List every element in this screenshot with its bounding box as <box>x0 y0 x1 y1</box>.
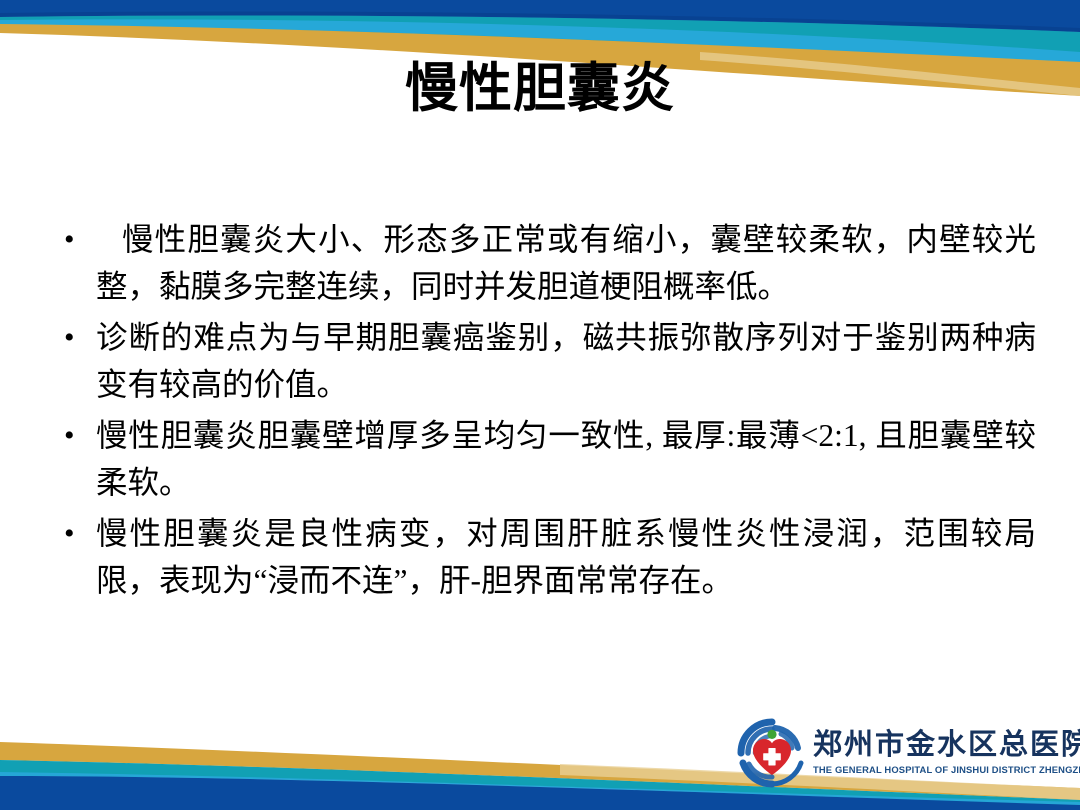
bullet-text: 慢性胆囊炎大小、形态多正常或有缩小，囊壁较柔软，内壁较光整，黏膜多完整连续，同时… <box>96 216 1036 310</box>
bullet-text: 诊断的难点为与早期胆囊癌鉴别，磁共振弥散序列对于鉴别两种病变有较高的价值。 <box>96 314 1036 408</box>
bullet-marker-icon: • <box>56 314 96 361</box>
top-band-darkblue <box>0 0 1080 32</box>
logo-text: 郑州市金水区总医院 THE GENERAL HOSPITAL OF JINSHU… <box>809 730 1080 777</box>
bullet-marker-icon: • <box>56 510 96 557</box>
bullet-text: 慢性胆囊炎胆囊壁增厚多呈均匀一致性, 最厚:最薄<2:1, 且胆囊壁较柔软。 <box>96 412 1036 506</box>
list-item: • 慢性胆囊炎大小、形态多正常或有缩小，囊壁较柔软，内壁较光整，黏膜多完整连续，… <box>56 216 1036 310</box>
heart-cross-swirl-icon <box>735 717 809 789</box>
top-band-navy <box>0 11 1080 36</box>
bullet-text: 慢性胆囊炎是良性病变，对周围肝脏系慢性炎性浸润，范围较局限，表现为“浸而不连”，… <box>96 510 1036 604</box>
bullet-list: • 慢性胆囊炎大小、形态多正常或有缩小，囊壁较柔软，内壁较光整，黏膜多完整连续，… <box>56 216 1036 608</box>
slide: 慢性胆囊炎 • 慢性胆囊炎大小、形态多正常或有缩小，囊壁较柔软，内壁较光整，黏膜… <box>0 0 1080 810</box>
list-item: • 诊断的难点为与早期胆囊癌鉴别，磁共振弥散序列对于鉴别两种病变有较高的价值。 <box>56 314 1036 408</box>
hospital-logo: 郑州市金水区总医院 THE GENERAL HOSPITAL OF JINSHU… <box>735 716 1065 790</box>
list-item: • 慢性胆囊炎是良性病变，对周围肝脏系慢性炎性浸润，范围较局限，表现为“浸而不连… <box>56 510 1036 604</box>
page-title: 慢性胆囊炎 <box>0 58 1080 121</box>
bullet-marker-icon: • <box>56 216 96 263</box>
green-dot-icon <box>767 730 776 739</box>
top-band-teal <box>0 15 1080 62</box>
logo-name-en: THE GENERAL HOSPITAL OF JINSHUI DISTRICT… <box>813 764 1080 776</box>
bullet-marker-icon: • <box>56 412 96 459</box>
logo-name-cn: 郑州市金水区总医院 <box>813 730 1080 761</box>
list-item: • 慢性胆囊炎胆囊壁增厚多呈均匀一致性, 最厚:最薄<2:1, 且胆囊壁较柔软。 <box>56 412 1036 506</box>
